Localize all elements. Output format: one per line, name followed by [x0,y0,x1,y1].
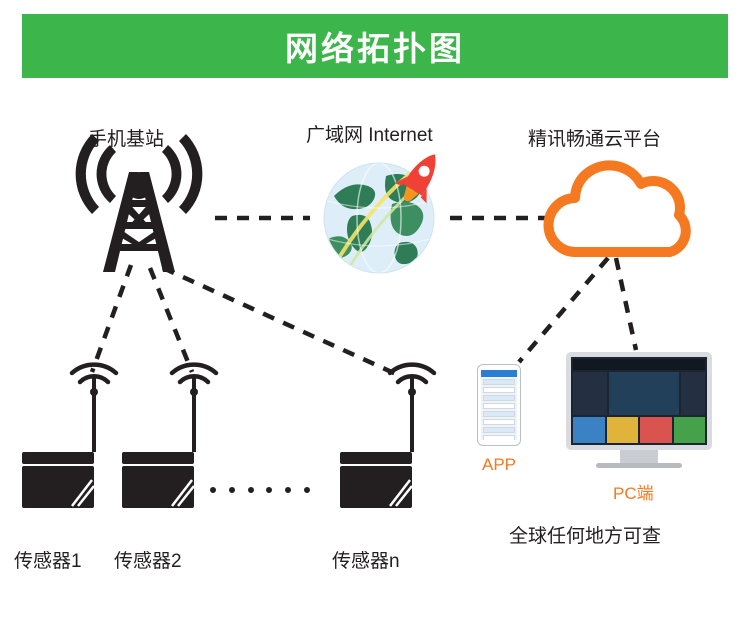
sensor-icon-n [340,365,434,508]
monitor-icon [566,352,712,450]
monitor-stand [620,450,658,464]
label-anywhere: 全球任何地方可查 [509,521,661,548]
monitor-base [596,463,682,468]
sensor-icon-2 [122,365,216,508]
label-base-station: 手机基站 [88,124,164,151]
label-pc: PC端 [613,479,654,504]
label-internet: 广域网 Internet [306,120,433,147]
label-app: APP [482,455,516,475]
label-sensor-2: 传感器2 [114,546,182,573]
label-sensor-n: 传感器n [332,546,400,573]
ellipsis-dots [210,487,310,493]
label-sensor-1: 传感器1 [14,546,82,573]
smartphone-icon [477,364,521,446]
diagram-canvas: 网络拓扑图 [0,0,750,619]
sensor-icon-1 [22,365,116,508]
label-cloud-platform: 精讯畅通云平台 [528,124,661,151]
